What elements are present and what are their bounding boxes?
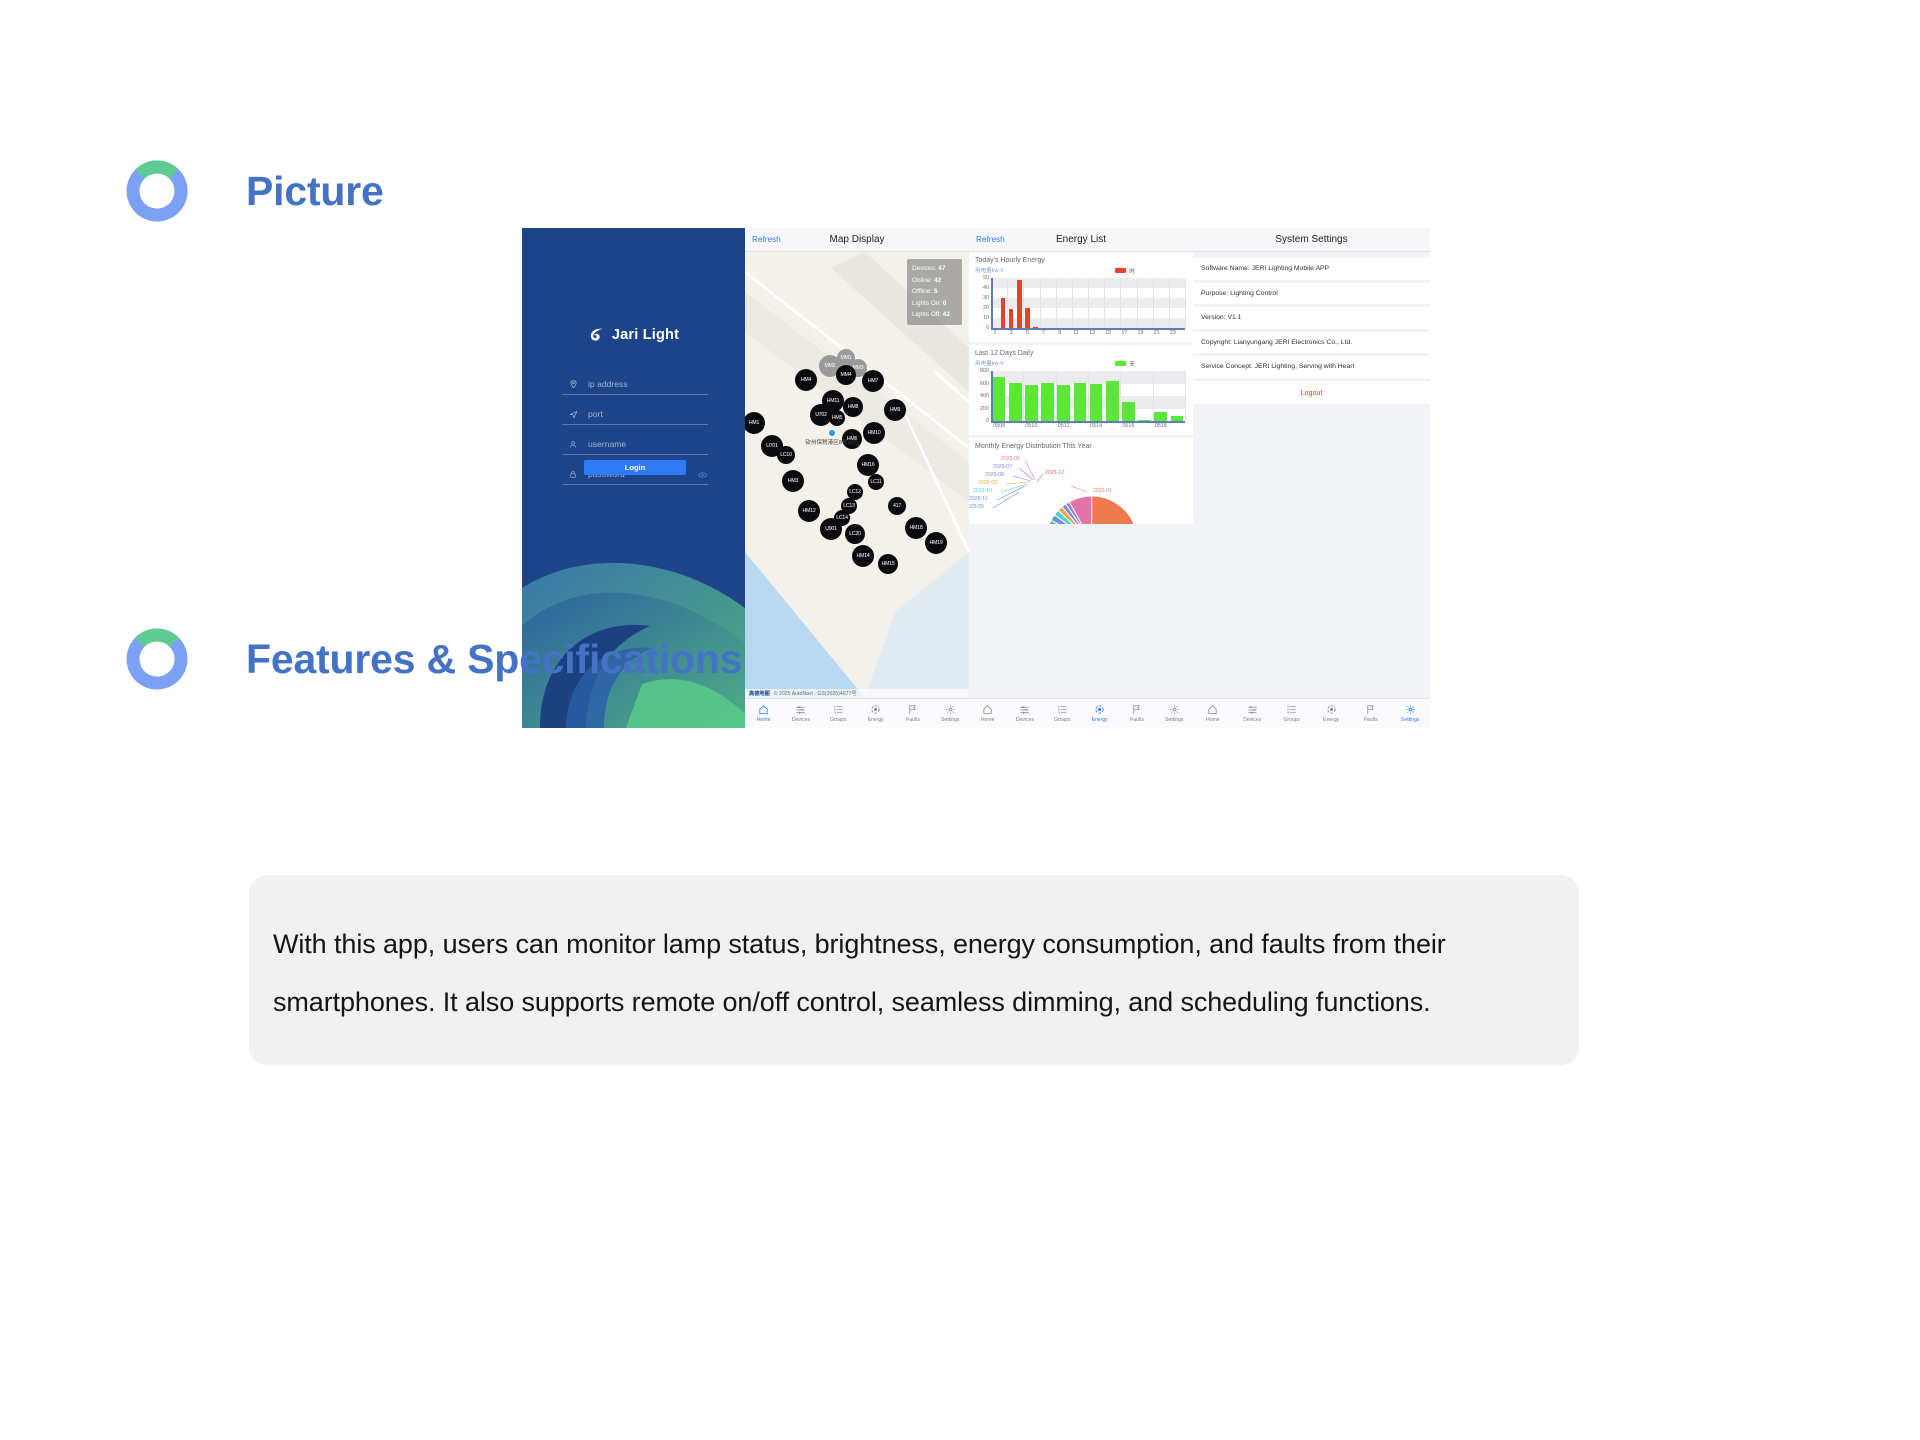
pie-slice-label: 2025-07 bbox=[993, 464, 1012, 470]
login-brand: Jari Light bbox=[522, 326, 745, 343]
energy-icon bbox=[1326, 704, 1337, 715]
paper-plane-icon bbox=[562, 410, 584, 419]
stat-lights-on: Lights On: 0 bbox=[912, 298, 957, 310]
tab-energy[interactable]: Energy bbox=[857, 704, 894, 723]
map-marker[interactable]: HM9 bbox=[884, 399, 906, 421]
login-fields: ip address port username password bbox=[562, 374, 708, 494]
section-header-features: Features & Specifications bbox=[126, 628, 742, 690]
c-logo-icon bbox=[126, 160, 188, 222]
tab-label: Settings bbox=[1401, 717, 1419, 723]
chart-gridline bbox=[1056, 278, 1057, 328]
chart-x-tick: 0510 bbox=[1020, 423, 1042, 429]
lock-icon bbox=[562, 470, 584, 479]
pie-slice bbox=[1092, 496, 1138, 524]
pie-leader-line bbox=[1025, 460, 1035, 480]
tab-label: Energy bbox=[1092, 717, 1108, 723]
pie-chart-title: Monthly Energy Distribution This Year bbox=[975, 443, 1187, 450]
energy-navbar: Refresh Energy List bbox=[969, 228, 1193, 252]
list-icon bbox=[1286, 704, 1297, 715]
energy-tabbar[interactable]: HomeDevicesGroupsEnergyFaultsSettings bbox=[969, 698, 1193, 728]
pie-slice-label: 2025-12 bbox=[1045, 470, 1064, 476]
monthly-energy-pie-chart: 2025-012025-122025-062025-072025-082025-… bbox=[975, 452, 1187, 524]
tab-label: Settings bbox=[941, 717, 959, 723]
tab-devices[interactable]: Devices bbox=[782, 704, 819, 723]
stat-online: Online: 42 bbox=[912, 275, 957, 287]
logout-button[interactable]: Logout bbox=[1193, 381, 1430, 404]
tab-label: Devices bbox=[1243, 717, 1261, 723]
energy-icon bbox=[1094, 704, 1105, 715]
energy-icon bbox=[870, 704, 881, 715]
home-icon bbox=[758, 704, 769, 715]
tab-groups[interactable]: Groups bbox=[1044, 704, 1081, 723]
chart-y-tick: 400 bbox=[975, 393, 989, 399]
map-attribution-logo: 高德地图 bbox=[749, 690, 770, 697]
description-text: With this app, users can monitor lamp st… bbox=[273, 915, 1553, 1031]
tab-devices[interactable]: Devices bbox=[1233, 704, 1273, 723]
chart-bar bbox=[1009, 383, 1022, 421]
setting-row-software-name[interactable]: Software Name: JERI Lighting Mobile APP bbox=[1193, 258, 1430, 280]
eye-icon[interactable] bbox=[698, 465, 707, 483]
jari-light-mark-icon bbox=[588, 326, 605, 343]
chart-bar bbox=[1033, 327, 1037, 328]
tab-settings[interactable]: Settings bbox=[1156, 704, 1193, 723]
hourly-legend-label: 时 bbox=[1129, 266, 1135, 275]
monthly-distribution-card: Monthly Energy Distribution This Year 20… bbox=[969, 438, 1193, 524]
chart-gridline bbox=[1072, 278, 1073, 328]
map-marker[interactable]: HM5 bbox=[829, 410, 845, 426]
description-box: With this app, users can monitor lamp st… bbox=[249, 875, 1579, 1065]
tab-settings[interactable]: Settings bbox=[1391, 704, 1431, 723]
location-pin-icon bbox=[562, 379, 584, 389]
tab-label: Groups bbox=[830, 717, 847, 723]
list-icon bbox=[833, 704, 844, 715]
setting-row-version[interactable]: Version: V1.1 bbox=[1193, 307, 1430, 329]
chart-y-tick: 800 bbox=[975, 368, 989, 374]
pie-leader-line bbox=[993, 492, 1019, 508]
map-marker[interactable]: HM8 bbox=[843, 397, 863, 417]
chart-x-tick: 0518 bbox=[1150, 423, 1172, 429]
chart-x-tick: 0516 bbox=[1117, 423, 1139, 429]
pie-slice-label: 2025-01 bbox=[1093, 488, 1112, 494]
tab-groups[interactable]: Groups bbox=[1272, 704, 1312, 723]
chart-gridline bbox=[1169, 278, 1170, 328]
chart-x-tick: 0514 bbox=[1085, 423, 1107, 429]
daily-legend: 天 bbox=[1115, 359, 1135, 368]
map-marker[interactable]: HM12 bbox=[798, 500, 820, 522]
map-marker[interactable]: HM18 bbox=[905, 517, 927, 539]
chart-bar bbox=[1001, 298, 1005, 328]
chart-gridline bbox=[1185, 371, 1186, 421]
map-marker[interactable]: LC11 bbox=[868, 474, 884, 490]
chart-y-tick: 30 bbox=[975, 295, 989, 301]
energy-list-panel: Refresh Energy List Today's Hourly Energ… bbox=[969, 228, 1193, 728]
chart-bar bbox=[1171, 416, 1184, 421]
port-placeholder: port bbox=[584, 409, 603, 419]
map-display-panel: Refresh Map Display Devices: 47 Online: … bbox=[745, 228, 969, 728]
chart-y-tick: 50 bbox=[975, 275, 989, 281]
map-marker[interactable]: HM4 bbox=[795, 369, 817, 391]
sliders-icon bbox=[1019, 704, 1030, 715]
login-button[interactable]: Login bbox=[584, 460, 686, 475]
chart-bar bbox=[1090, 384, 1103, 422]
gear-icon bbox=[1405, 704, 1416, 715]
tab-energy[interactable]: Energy bbox=[1312, 704, 1352, 723]
chart-y-tick: 600 bbox=[975, 381, 989, 387]
tab-home[interactable]: Home bbox=[969, 704, 1006, 723]
tab-home[interactable]: Home bbox=[745, 704, 782, 723]
tab-label: Faults bbox=[1364, 717, 1378, 723]
c-logo-icon bbox=[126, 628, 188, 690]
map-marker[interactable]: HM16 bbox=[857, 454, 879, 476]
map-navbar: Refresh Map Display bbox=[745, 228, 969, 252]
stat-offline: Offline: 5 bbox=[912, 286, 957, 298]
chart-y-tick: 40 bbox=[975, 285, 989, 291]
pie-svg bbox=[975, 452, 1187, 524]
chart-gridline bbox=[1185, 278, 1186, 328]
chart-bar bbox=[1154, 412, 1167, 421]
settings-navbar: System Settings bbox=[1193, 228, 1430, 252]
chart-gridline bbox=[1104, 278, 1105, 328]
pie-slice-label: 2025-11 bbox=[969, 496, 988, 502]
gear-icon bbox=[1169, 704, 1180, 715]
pie-slice-label: 2025-10 bbox=[973, 488, 992, 494]
chart-bar bbox=[993, 377, 1006, 421]
tab-label: Energy bbox=[1323, 717, 1339, 723]
hourly-energy-card: Today's Hourly Energy 用电量kw·h 时 01020304… bbox=[969, 252, 1193, 342]
hourly-ylabel: 用电量kw·h bbox=[975, 266, 1004, 274]
daily-chart-title: Last 12 Days Daily bbox=[975, 350, 1187, 357]
ip-address-placeholder: ip address bbox=[584, 379, 628, 389]
setting-row-copyright[interactable]: Copyright: Lianyungang JERI Electronics … bbox=[1193, 332, 1430, 354]
chart-bar bbox=[1074, 383, 1087, 421]
map-attribution-text: © 2025 AutoNavi - GS(2025)4677号 bbox=[774, 690, 857, 697]
stat-lights-off: Lights Off: 42 bbox=[912, 309, 957, 321]
system-settings-panel: System Settings Software Name: JERI Ligh… bbox=[1193, 228, 1430, 728]
tab-settings[interactable]: Settings bbox=[932, 704, 969, 723]
tab-faults[interactable]: Faults bbox=[1118, 704, 1155, 723]
port-field[interactable]: port bbox=[562, 404, 708, 425]
tab-label: Faults bbox=[1130, 717, 1144, 723]
home-icon bbox=[1207, 704, 1218, 715]
list-icon bbox=[1057, 704, 1068, 715]
sliders-icon bbox=[1247, 704, 1258, 715]
flag-icon bbox=[1365, 704, 1376, 715]
pie-leader-line bbox=[1037, 474, 1043, 482]
map-tabbar[interactable]: HomeDevicesGroupsEnergyFaultsSettings bbox=[745, 698, 969, 728]
chart-y-tick: 0 bbox=[975, 418, 989, 424]
tab-home[interactable]: Home bbox=[1193, 704, 1233, 723]
setting-row-service-concept[interactable]: Service Concept: JERI Lighting, Serving … bbox=[1193, 356, 1430, 378]
chart-bar bbox=[1106, 381, 1119, 421]
chart-bar bbox=[1025, 385, 1038, 421]
map-marker[interactable]: HM10 bbox=[863, 422, 885, 444]
map-marker[interactable]: HM7 bbox=[862, 370, 884, 392]
flag-icon bbox=[907, 704, 918, 715]
username-placeholder: username bbox=[584, 439, 626, 449]
hourly-energy-chart: 010203040501357911131517192123 bbox=[975, 276, 1187, 338]
pie-leader-line bbox=[1001, 484, 1027, 492]
map-place-label: 钦州保税港区8号泊位 bbox=[803, 440, 861, 447]
tab-devices[interactable]: Devices bbox=[1006, 704, 1043, 723]
pie-leader-line bbox=[997, 486, 1025, 500]
user-icon bbox=[562, 440, 584, 449]
daily-energy-card: Last 12 Days Daily 用电量kw·h 天 02004006008… bbox=[969, 345, 1193, 435]
chart-bar bbox=[1122, 402, 1135, 421]
chart-gridline bbox=[1153, 278, 1154, 328]
map-marker[interactable]: MM4 bbox=[836, 365, 856, 385]
gear-icon bbox=[945, 704, 956, 715]
pie-leader-line bbox=[1013, 476, 1031, 481]
pie-slice-label: 2025-06 bbox=[1001, 456, 1020, 462]
map-marker[interactable]: HM19 bbox=[925, 532, 947, 554]
chart-x-tick: 23 bbox=[1162, 330, 1184, 336]
chart-y-tick: 10 bbox=[975, 315, 989, 321]
chart-gridline bbox=[1040, 278, 1041, 328]
tab-label: Home bbox=[981, 717, 995, 723]
tab-label: Groups bbox=[1283, 717, 1300, 723]
pie-slice-label: 2025-05 bbox=[969, 504, 984, 510]
map-marker[interactable]: HM15 bbox=[878, 554, 898, 574]
tab-label: Home bbox=[1206, 717, 1220, 723]
tab-energy[interactable]: Energy bbox=[1081, 704, 1118, 723]
map-marker[interactable]: HM14 bbox=[852, 545, 874, 567]
map-marker[interactable]: LC14 bbox=[834, 510, 850, 526]
map-marker[interactable]: HM3 bbox=[782, 470, 804, 492]
tab-label: Groups bbox=[1054, 717, 1071, 723]
tab-groups[interactable]: Groups bbox=[820, 704, 857, 723]
chart-y-tick: 200 bbox=[975, 406, 989, 412]
map-marker[interactable]: LC10 bbox=[777, 446, 795, 464]
energy-title: Energy List bbox=[969, 234, 1193, 245]
tab-label: Home bbox=[757, 717, 771, 723]
map-title: Map Display bbox=[745, 234, 969, 245]
settings-tabbar[interactable]: HomeDevicesGroupsEnergyFaultsSettings bbox=[1193, 698, 1430, 728]
settings-title: System Settings bbox=[1193, 234, 1430, 245]
map-canvas[interactable]: Devices: 47 Online: 42 Offline: 5 Lights… bbox=[745, 252, 969, 698]
section-title: Features & Specifications bbox=[246, 636, 742, 683]
daily-energy-chart: 0200400600800050805100512051405160518 bbox=[975, 369, 1187, 431]
home-icon bbox=[982, 704, 993, 715]
tab-label: Devices bbox=[792, 717, 810, 723]
map-center-pin-icon bbox=[827, 428, 837, 438]
chart-x-tick: 0508 bbox=[988, 423, 1010, 429]
tab-label: Devices bbox=[1016, 717, 1034, 723]
username-field[interactable]: username bbox=[562, 434, 708, 455]
hourly-chart-title: Today's Hourly Energy bbox=[975, 257, 1187, 264]
energy-content: Today's Hourly Energy 用电量kw·h 时 01020304… bbox=[969, 252, 1193, 698]
pie-leader-line bbox=[1006, 482, 1029, 484]
tab-label: Faults bbox=[906, 717, 920, 723]
chart-bar bbox=[1017, 280, 1021, 328]
settings-content: Software Name: JERI Lighting Mobile APP … bbox=[1193, 252, 1430, 698]
daily-legend-label: 天 bbox=[1129, 359, 1135, 368]
chart-y-axis bbox=[991, 278, 993, 328]
chart-y-tick: 20 bbox=[975, 305, 989, 311]
chart-x-tick: 0512 bbox=[1053, 423, 1075, 429]
chart-bar bbox=[1025, 308, 1029, 328]
tab-faults[interactable]: Faults bbox=[1351, 704, 1391, 723]
ip-address-field[interactable]: ip address bbox=[562, 374, 708, 395]
flag-icon bbox=[1131, 704, 1142, 715]
tab-faults[interactable]: Faults bbox=[894, 704, 931, 723]
chart-bar bbox=[1138, 420, 1151, 421]
daily-ylabel: 用电量kw·h bbox=[975, 359, 1004, 367]
map-stats-overlay: Devices: 47 Online: 42 Offline: 5 Lights… bbox=[907, 259, 962, 325]
pie-slice-label: 2025-08 bbox=[985, 472, 1004, 478]
section-header-picture: Picture bbox=[126, 160, 384, 222]
map-marker[interactable]: LC20 bbox=[845, 524, 865, 544]
chart-gridline bbox=[1137, 278, 1138, 328]
chart-bar bbox=[1009, 309, 1013, 328]
chart-gridline bbox=[1120, 278, 1121, 328]
pie-slice-label: 2025-09 bbox=[978, 480, 997, 486]
tab-label: Settings bbox=[1165, 717, 1183, 723]
setting-row-purpose[interactable]: Purpose: Lighting Control bbox=[1193, 283, 1430, 305]
section-title: Picture bbox=[246, 168, 384, 215]
sliders-icon bbox=[795, 704, 806, 715]
chart-bar bbox=[1041, 383, 1054, 421]
map-marker[interactable]: 417 bbox=[888, 497, 906, 515]
tab-label: Energy bbox=[868, 717, 884, 723]
login-brand-text: Jari Light bbox=[612, 327, 679, 343]
map-attribution: 高德地图 © 2025 AutoNavi - GS(2025)4677号 bbox=[745, 689, 969, 698]
stat-devices: Devices: 47 bbox=[912, 263, 957, 275]
pie-leader-line bbox=[1071, 486, 1087, 492]
hourly-legend: 时 bbox=[1115, 266, 1135, 275]
chart-bar bbox=[1057, 385, 1070, 421]
chart-gridline bbox=[1088, 278, 1089, 328]
